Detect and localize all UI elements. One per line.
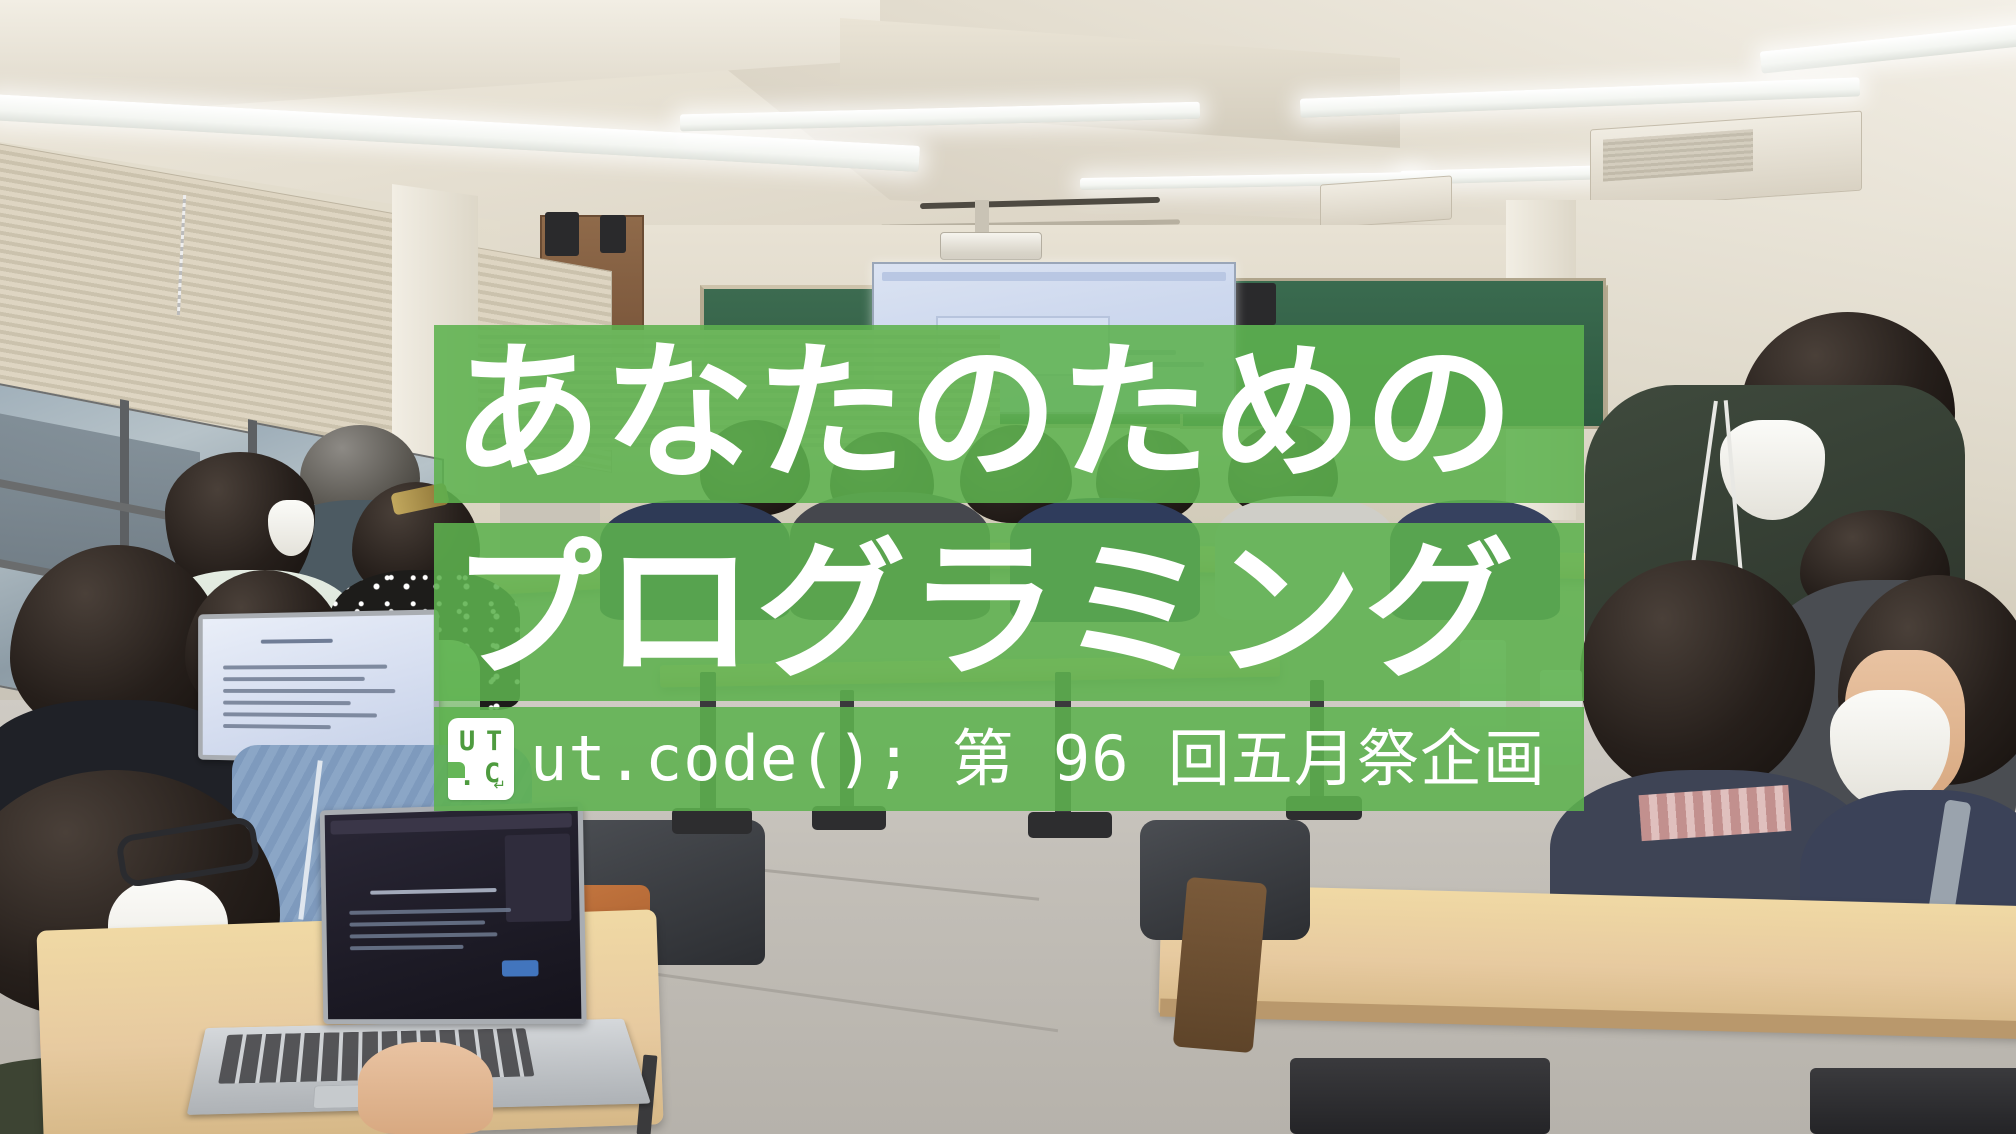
logo-letter-t: T bbox=[486, 728, 502, 755]
title-line-2: プログラミング bbox=[434, 537, 1516, 687]
title-band-line1: あなたのための bbox=[434, 325, 1584, 503]
browser-toolbar bbox=[330, 813, 571, 835]
wall-speaker bbox=[600, 215, 626, 253]
logo-letter-dot: . bbox=[459, 763, 475, 790]
wall-speaker bbox=[545, 212, 579, 256]
desk-foot bbox=[1028, 812, 1112, 838]
logo-return-arrow-icon: ↵ bbox=[493, 778, 506, 793]
laptop-screen bbox=[320, 801, 587, 1024]
ut-code-logo-icon: U T . C ↵ bbox=[448, 718, 514, 800]
subtitle-text: ut.code(); 第 96 回五月祭企画 bbox=[530, 728, 1546, 790]
laptop-screen bbox=[198, 609, 439, 764]
subtitle-row: U T . C ↵ ut.code(); 第 96 回五月祭企画 bbox=[434, 718, 1546, 800]
vent-grill bbox=[1603, 129, 1753, 181]
chair bbox=[1810, 1068, 2016, 1134]
screen-toolbar bbox=[882, 272, 1226, 281]
title-line-1: あなたのための bbox=[434, 339, 1516, 489]
poster-image: あなたのための プログラミング U T . C ↵ ut.code(); 第 9… bbox=[0, 0, 2016, 1134]
umbrella bbox=[1173, 877, 1268, 1053]
subtitle-band: U T . C ↵ ut.code(); 第 96 回五月祭企画 bbox=[434, 707, 1584, 811]
title-band-line2: プログラミング bbox=[434, 523, 1584, 701]
sidebar-panel bbox=[505, 833, 572, 922]
projector bbox=[940, 232, 1042, 260]
chair bbox=[1290, 1058, 1550, 1134]
projector-mount bbox=[975, 200, 989, 236]
logo-letter-u: U bbox=[459, 728, 475, 755]
ceiling-vent bbox=[1320, 175, 1452, 228]
hand bbox=[358, 1042, 493, 1134]
desk-foot bbox=[672, 808, 752, 834]
